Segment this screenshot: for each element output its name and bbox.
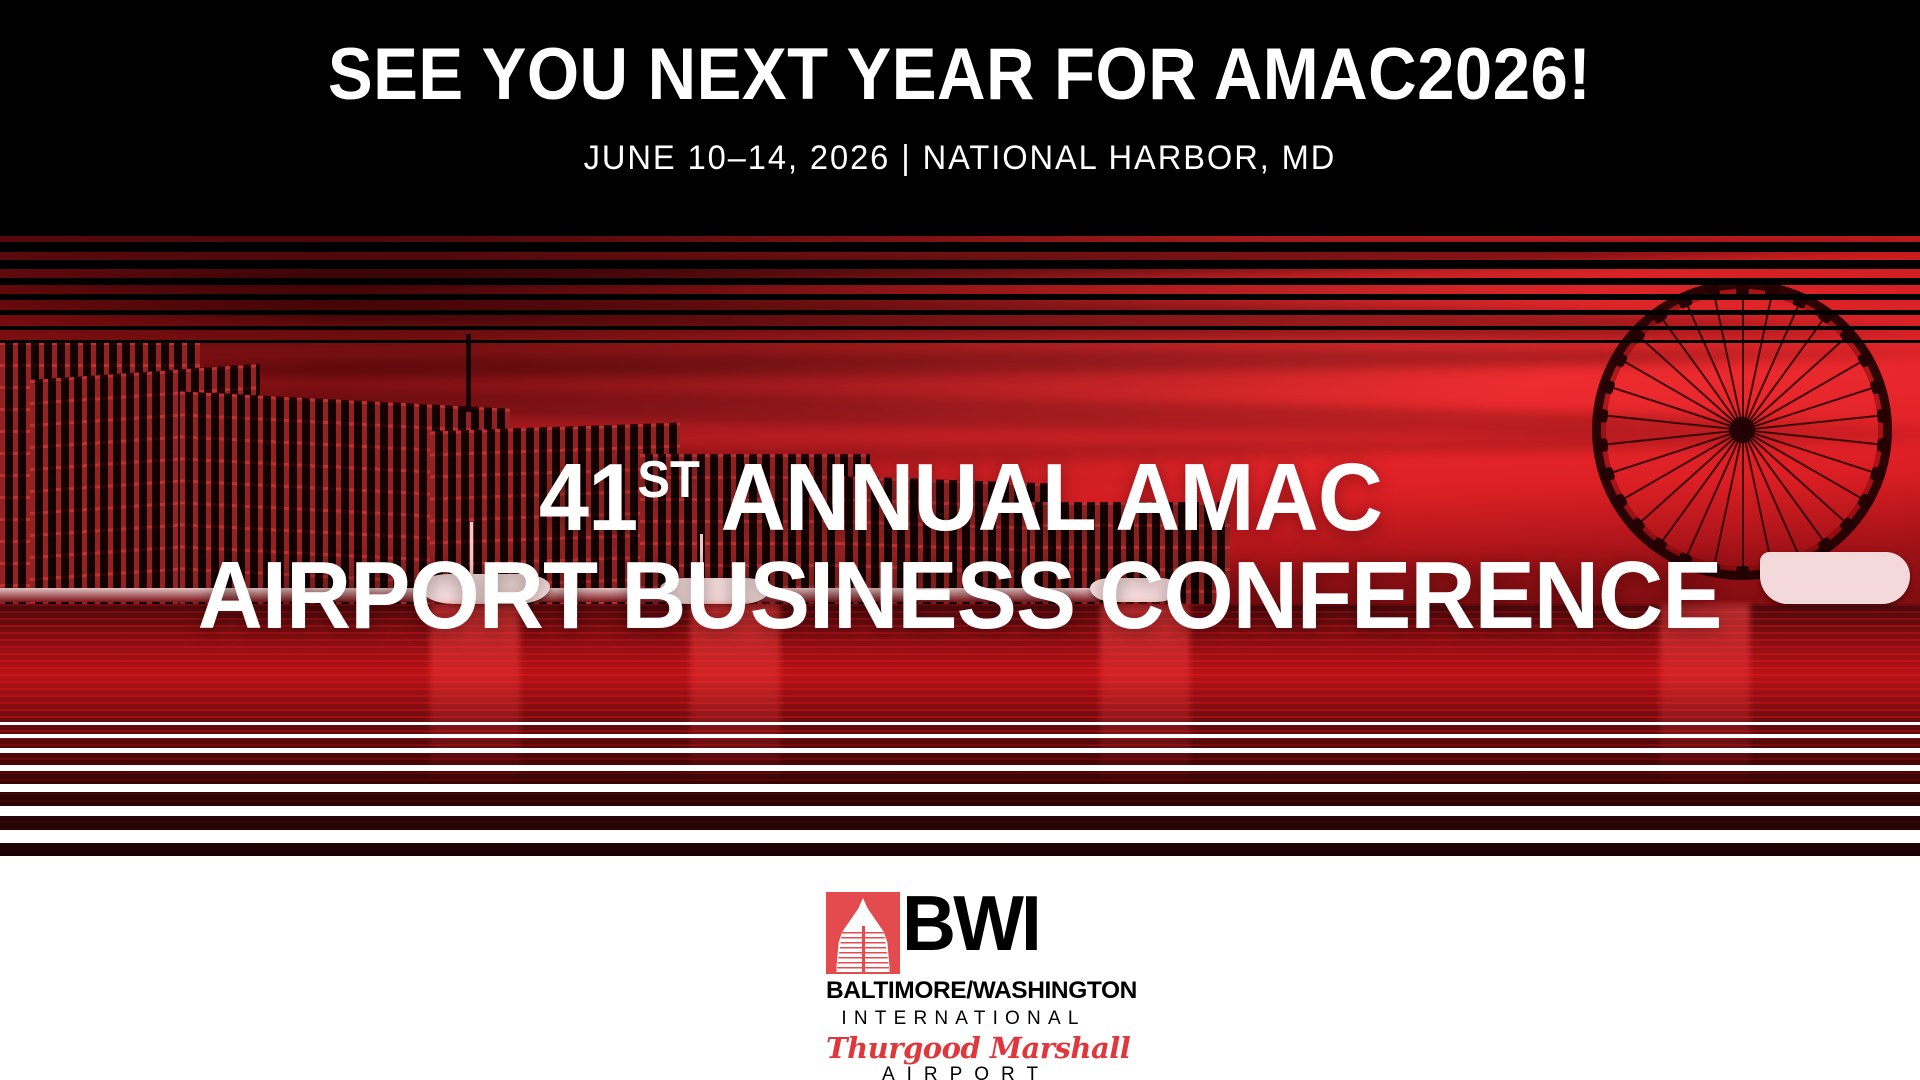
ferry-boat: [1760, 552, 1910, 604]
stripe-transition-bottom: [0, 722, 1920, 872]
ferris-wheel-cabin: [1869, 466, 1885, 482]
transition-stripe: [0, 734, 1920, 738]
ferris-wheel-spoke: [1742, 430, 1744, 570]
bwi-international-line: INTERNATIONAL: [826, 1008, 1094, 1030]
transition-stripe: [0, 310, 1920, 315]
pier-dock: [0, 588, 1100, 602]
boat-mast: [470, 522, 473, 576]
bwi-logo-top: BWI: [826, 892, 1094, 976]
transition-stripe: [0, 748, 1920, 753]
hero-photo: [0, 222, 1920, 872]
ferris-wheel-spoke: [1638, 429, 1743, 524]
ferris-wheel-cabin: [1736, 566, 1749, 579]
transition-stripe: [0, 722, 1920, 725]
stripe-transition-top: [0, 222, 1920, 352]
boat-mast: [700, 534, 703, 580]
bwi-city-line: BALTIMORE/WASHINGTON: [826, 977, 1094, 1005]
ferris-wheel-spoke: [1742, 430, 1801, 559]
event-banner: 41ST ANNUAL AMAC AIRPORT BUSINESS CONFER…: [0, 0, 1920, 1080]
bwi-thurgood-marshall-line: Thurgood Marshall: [826, 1031, 1094, 1065]
boat: [420, 574, 550, 604]
ferris-wheel-cabin: [1611, 351, 1629, 369]
transition-stripe: [0, 222, 1920, 236]
ferris-wheel-cabin: [1599, 378, 1615, 394]
boat: [1090, 578, 1180, 602]
boat: [660, 578, 770, 604]
transition-stripe: [0, 278, 1920, 285]
bwi-wordmark: BWI: [902, 892, 1039, 956]
transition-stripe: [0, 294, 1920, 300]
transition-stripe: [0, 242, 1920, 252]
footer-band: BWI BALTIMORE/WASHINGTON INTERNATIONAL T…: [0, 872, 1920, 1080]
ferris-wheel-cabin: [1594, 409, 1608, 423]
fountain-stem: [862, 926, 865, 974]
transition-stripe: [0, 806, 1920, 816]
transition-stripe: [0, 340, 1920, 343]
page-title: SEE YOU NEXT YEAR FOR AMAC2026!: [328, 38, 1591, 111]
header-band: SEE YOU NEXT YEAR FOR AMAC2026! JUNE 10–…: [0, 0, 1920, 222]
bwi-airport-line: AIRPORT: [826, 1064, 1094, 1080]
bwi-logo: BWI BALTIMORE/WASHINGTON INTERNATIONAL T…: [826, 892, 1094, 1060]
transition-stripe: [0, 830, 1920, 843]
ferris-wheel-cabin: [1676, 552, 1693, 569]
ferris-wheel-cabin: [1594, 438, 1608, 452]
bwi-fountain-icon: [826, 892, 900, 974]
ferris-wheel-cabin: [1705, 562, 1720, 577]
transition-stripe: [0, 856, 1920, 872]
transition-stripe: [0, 260, 1920, 269]
event-date-location: JUNE 10–14, 2026 | NATIONAL HARBOR, MD: [584, 139, 1337, 178]
ferris-wheel-cabin: [1599, 466, 1615, 482]
transition-stripe: [0, 326, 1920, 330]
transition-stripe: [0, 765, 1920, 771]
transition-stripe: [0, 784, 1920, 792]
